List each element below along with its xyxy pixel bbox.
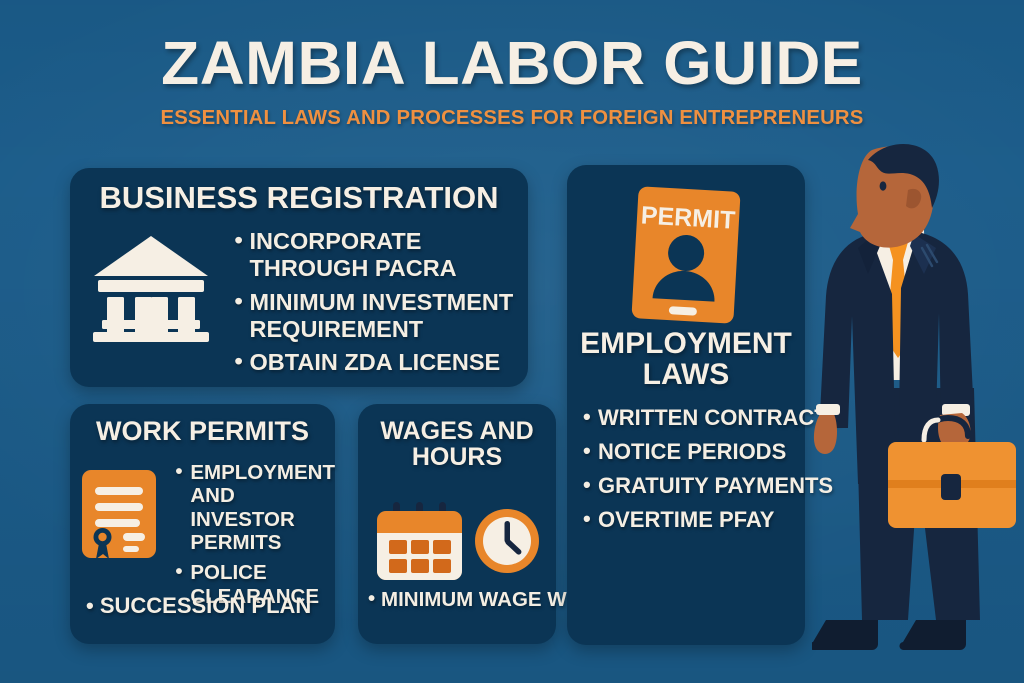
page-title: ZAMBIA LABOR GUIDE	[0, 32, 1024, 94]
list-item: EMPLOYMENT AND INVESTOR PERMITS	[173, 461, 335, 554]
card-body-business-registration: INCORPORATE THROUGH PACRA MINIMUM INVEST…	[70, 226, 528, 382]
infographic-canvas: ZAMBIA LABOR GUIDE ESSENTIAL LAWS AND PR…	[0, 0, 1024, 683]
businessman-illustration	[812, 138, 1024, 683]
list-item: OVERTIME PFAY	[581, 507, 816, 532]
bullet-list-employment-laws: WRITTEN CONTRACTS NOTICE PERIODS GRATUIT…	[581, 405, 816, 541]
list-item: MINIMUM WAGE WORKING LIMITS	[366, 588, 561, 612]
list-item: INCORPORATE THROUGH PACRA	[233, 228, 528, 283]
bank-icon	[70, 226, 233, 342]
permit-card-icon: PERMIT	[567, 181, 805, 329]
list-item: WRITTEN CONTRACTS	[581, 405, 816, 430]
card-title-work-permits: WORK PERMITS	[70, 417, 335, 445]
card-icons-wages-and-hours	[358, 500, 556, 587]
card-title-business-registration: BUSINESS REGISTRATION	[70, 182, 528, 214]
card-business-registration[interactable]: BUSINESS REGISTRATION	[70, 168, 528, 387]
certificate-icon-svg	[78, 467, 166, 565]
header: ZAMBIA LABOR GUIDE ESSENTIAL LAWS AND PR…	[0, 32, 1024, 130]
certificate-icon	[70, 461, 173, 565]
calendar-icon-svg	[373, 500, 465, 582]
list-item-succession-plan: • SUCCESSION PLAN	[86, 593, 356, 619]
list-item: OBTAIN ZDA LICENSE	[233, 349, 528, 376]
card-title-employment-laws: EMPLOYMENT LAWS	[567, 328, 805, 390]
list-item: NOTICE PERIODS	[581, 439, 816, 464]
bullet-list-wages-and-hours: MINIMUM WAGE WORKING LIMITS	[366, 588, 561, 612]
calendar-icon	[373, 500, 465, 587]
permit-card-icon-svg: PERMIT	[619, 181, 753, 329]
card-work-permits[interactable]: WORK PERMITS	[70, 404, 335, 644]
bullet-list-business-registration: INCORPORATE THROUGH PACRA MINIMUM INVEST…	[233, 228, 528, 382]
page-subtitle: ESSENTIAL LAWS AND PROCESSES FOR FOREIGN…	[5, 106, 1019, 130]
list-item: MINIMUM INVESTMENT REQUIREMENT	[233, 289, 528, 344]
list-item: GRATUITY PAYMENTS	[581, 473, 816, 498]
card-wages-and-hours[interactable]: WAGES AND HOURS	[358, 404, 556, 644]
bank-icon-svg	[90, 232, 212, 342]
permit-label: PERMIT	[640, 201, 736, 234]
card-employment-laws[interactable]: PERMIT EMPLOYMENT LAWS WRITTEN CONTRACTS…	[567, 165, 805, 645]
clock-icon-svg	[472, 506, 542, 576]
clock-icon	[472, 506, 542, 581]
card-title-wages-and-hours: WAGES AND HOURS	[358, 418, 556, 470]
businessman-illustration-svg	[812, 138, 1024, 683]
